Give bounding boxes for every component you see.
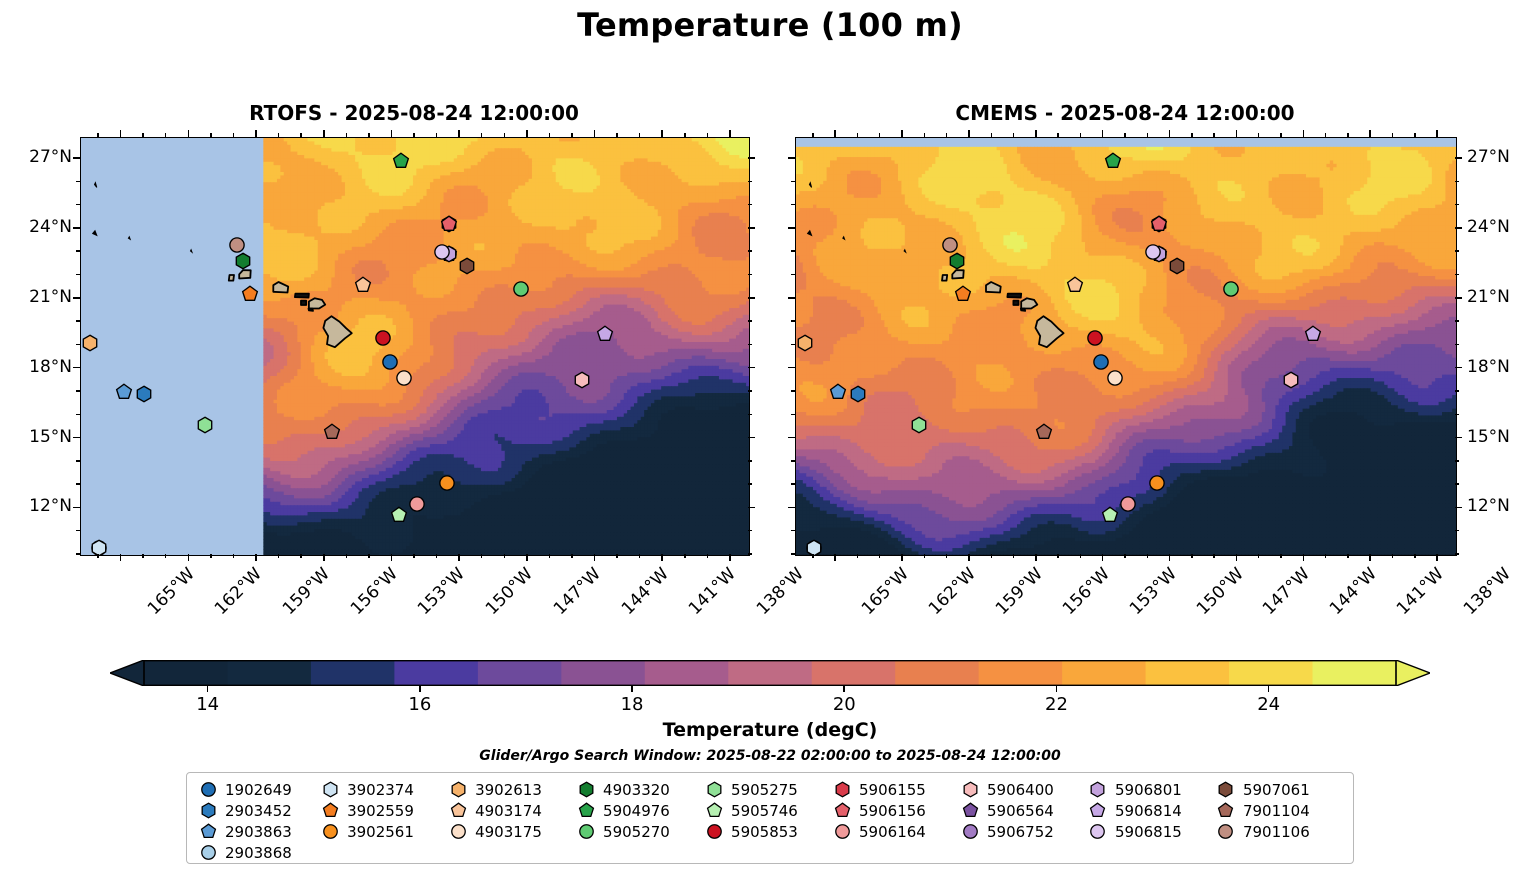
platform-legend[interactable]: 1902649290345229038632903868390237439025… (186, 772, 1354, 864)
legend-marker-icon (703, 781, 725, 798)
legend-label: 5906564 (981, 802, 1054, 820)
legend-marker-icon (575, 823, 597, 840)
x-tick-minor (1347, 554, 1348, 558)
legend-marker-icon (831, 781, 853, 798)
x-axis-label: 147°W (1259, 564, 1314, 619)
y-tick (1455, 297, 1462, 299)
x-tick (1303, 130, 1305, 137)
legend-marker-icon (959, 802, 981, 819)
x-tick-minor (857, 133, 858, 137)
colorbar-tick (1056, 686, 1058, 692)
legend-marker-icon (319, 823, 341, 840)
colorbar-tick (1268, 686, 1270, 692)
platform-marker[interactable] (596, 325, 614, 343)
legend-marker-icon (831, 823, 853, 840)
y-tick-minor (1455, 320, 1459, 321)
x-tick (391, 554, 393, 561)
legend-column: 390237439025593902561 (319, 779, 447, 863)
y-tick (788, 507, 795, 509)
x-axis-label: 138°W (1460, 564, 1515, 619)
y-tick-minor (76, 390, 80, 391)
legend-label: 4903175 (469, 823, 542, 841)
platform-marker[interactable] (1150, 215, 1168, 233)
y-tick-minor (791, 460, 795, 461)
colorbar-tick-label: 14 (196, 694, 219, 715)
legend-label: 5906814 (1109, 802, 1182, 820)
y-tick-minor (76, 204, 80, 205)
map-axes-cmems[interactable] (795, 137, 1457, 556)
y-tick-minor (1455, 460, 1459, 461)
x-tick-minor (142, 554, 143, 558)
legend-marker-icon (703, 802, 725, 819)
y-tick (788, 367, 795, 369)
platform-marker[interactable] (81, 334, 99, 352)
x-tick-minor (346, 133, 347, 137)
x-axis-label: 165°W (858, 564, 913, 619)
legend-marker-icon (1215, 802, 1237, 819)
legend-item[interactable]: 3902613 (447, 779, 575, 800)
y-tick (788, 157, 795, 159)
x-tick-minor (97, 554, 98, 558)
legend-item[interactable]: 2903452 (197, 800, 319, 821)
x-tick (255, 554, 257, 561)
y-tick-minor (76, 250, 80, 251)
x-tick-minor (1057, 554, 1058, 558)
y-tick-minor (76, 483, 80, 484)
x-tick-minor (924, 554, 925, 558)
legend-item[interactable]: 5905275 (703, 779, 831, 800)
y-tick-minor (791, 274, 795, 275)
platform-marker[interactable] (910, 416, 928, 434)
x-tick-minor (300, 554, 301, 558)
panel-title-rtofs: RTOFS - 2025-08-24 12:00:00 (80, 101, 748, 125)
x-tick-minor (549, 133, 550, 137)
x-axis-label: 159°W (279, 564, 334, 619)
x-tick-minor (879, 133, 880, 137)
legend-label: 7901106 (1237, 823, 1310, 841)
platform-marker[interactable] (90, 539, 108, 556)
x-tick-minor (97, 133, 98, 137)
y-tick-minor (791, 250, 795, 251)
x-tick-minor (946, 554, 947, 558)
platform-marker[interactable] (395, 369, 413, 387)
legend-item[interactable]: 5905270 (575, 821, 703, 842)
y-tick (748, 507, 755, 509)
x-tick (968, 130, 970, 137)
legend-label: 5906155 (853, 781, 926, 799)
y-tick-minor (791, 530, 795, 531)
x-tick-minor (1280, 554, 1281, 558)
x-tick (1102, 130, 1104, 137)
legend-item[interactable]: 5906814 (1087, 800, 1215, 821)
x-tick-minor (924, 133, 925, 137)
x-tick-minor (1325, 133, 1326, 137)
legend-column: 1902649290345229038632903868 (197, 779, 319, 863)
legend-item[interactable]: 5906156 (831, 800, 959, 821)
y-tick-minor (748, 460, 752, 461)
x-tick-minor (1191, 133, 1192, 137)
x-tick-minor (946, 133, 947, 137)
legend-label: 5906164 (853, 823, 926, 841)
legend-item[interactable]: 4903174 (447, 800, 575, 821)
x-tick-minor (165, 133, 166, 137)
colorbar-tick-label: 24 (1257, 694, 1280, 715)
platform-marker[interactable] (354, 276, 372, 294)
platform-marker[interactable] (1035, 423, 1053, 441)
y-axis-label: 21°N (8, 287, 72, 307)
legend-item[interactable]: 5906400 (959, 779, 1087, 800)
legend-marker-icon (447, 781, 469, 798)
x-tick (526, 554, 528, 561)
x-tick-minor (1280, 133, 1281, 137)
platform-marker[interactable] (941, 236, 959, 254)
x-tick-minor (1147, 133, 1148, 137)
y-tick (1455, 157, 1462, 159)
legend-label: 5906815 (1109, 823, 1182, 841)
x-axis-label: 156°W (1059, 564, 1114, 619)
legend-item[interactable]: 5906164 (831, 821, 959, 842)
legend-marker-icon (959, 823, 981, 840)
x-tick-minor (1213, 554, 1214, 558)
x-tick-minor (210, 133, 211, 137)
x-tick-minor (481, 133, 482, 137)
platform-marker[interactable] (948, 252, 966, 270)
platform-marker[interactable] (954, 285, 972, 303)
platform-marker[interactable] (1148, 474, 1166, 492)
platform-marker[interactable] (392, 152, 410, 170)
legend-item[interactable]: 5906752 (959, 821, 1087, 842)
platform-marker[interactable] (1144, 243, 1162, 261)
x-tick (901, 130, 903, 137)
legend-item[interactable]: 5905746 (703, 800, 831, 821)
y-axis-label: 15°N (1467, 427, 1510, 447)
x-tick (1102, 554, 1104, 561)
legend-marker-icon (447, 802, 469, 819)
platform-marker[interactable] (1101, 506, 1119, 524)
y-tick-minor (748, 344, 752, 345)
x-axis-label: 159°W (992, 564, 1047, 619)
x-axis-label: 165°W (144, 564, 199, 619)
x-tick-minor (707, 133, 708, 137)
platform-marker[interactable] (1304, 325, 1322, 343)
platform-marker[interactable] (228, 236, 246, 254)
y-tick (1455, 367, 1462, 369)
y-tick-minor (791, 553, 795, 554)
legend-marker-icon (1087, 802, 1109, 819)
legend-item[interactable]: 1902649 (197, 779, 319, 800)
colorbar-tick-label: 16 (408, 694, 431, 715)
x-tick-minor (1325, 554, 1326, 558)
x-tick-minor (1191, 554, 1192, 558)
x-tick-minor (346, 554, 347, 558)
x-tick-minor (413, 133, 414, 137)
x-tick (1035, 130, 1037, 137)
x-tick-minor (436, 133, 437, 137)
platform-marker[interactable] (241, 285, 259, 303)
platform-marker[interactable] (115, 383, 133, 401)
y-tick-minor (1455, 553, 1459, 554)
legend-marker-icon (1215, 781, 1237, 798)
x-tick-minor (812, 133, 813, 137)
y-tick-minor (76, 344, 80, 345)
platform-marker[interactable] (408, 495, 426, 513)
platform-marker[interactable] (573, 371, 591, 389)
x-tick-minor (233, 554, 234, 558)
platform-marker[interactable] (135, 385, 153, 403)
figure-root: Temperature (100 m) RTOFS - 2025-08-24 1… (0, 0, 1540, 889)
platform-marker[interactable] (440, 215, 458, 233)
legend-item[interactable]: 3902561 (319, 821, 447, 842)
y-axis-label: 27°N (8, 147, 72, 167)
y-axis-label: 24°N (1467, 217, 1510, 237)
platform-marker[interactable] (1066, 276, 1084, 294)
x-axis-label: 138°W (753, 564, 808, 619)
platform-marker[interactable] (234, 252, 252, 270)
y-tick (73, 227, 80, 229)
x-tick-minor (1124, 133, 1125, 137)
legend-label: 2903868 (219, 844, 292, 862)
y-tick-minor (791, 483, 795, 484)
legend-column: 590615559061565906164 (831, 779, 959, 863)
y-tick-minor (748, 390, 752, 391)
legend-label: 5905275 (725, 781, 798, 799)
y-tick-minor (1455, 390, 1459, 391)
platform-marker[interactable] (1092, 353, 1110, 371)
y-axis-label: 12°N (1467, 496, 1510, 516)
x-tick-minor (991, 133, 992, 137)
legend-item[interactable]: 4903175 (447, 821, 575, 842)
x-tick-minor (571, 554, 572, 558)
x-tick-minor (504, 133, 505, 137)
x-tick (120, 130, 122, 137)
legend-item[interactable]: 5904976 (575, 800, 703, 821)
x-tick (323, 130, 325, 137)
x-tick (458, 554, 460, 561)
y-tick-minor (1455, 181, 1459, 182)
x-tick-minor (1392, 554, 1393, 558)
x-axis-label: 162°W (925, 564, 980, 619)
colorbar-tick-label: 20 (833, 694, 856, 715)
x-tick (1236, 130, 1238, 137)
y-axis-label: 18°N (8, 357, 72, 377)
x-tick-minor (571, 133, 572, 137)
x-tick-minor (707, 554, 708, 558)
legend-item[interactable]: 5906155 (831, 779, 959, 800)
y-tick-minor (76, 530, 80, 531)
x-tick-minor (368, 554, 369, 558)
x-tick (526, 130, 528, 137)
y-tick-minor (76, 181, 80, 182)
legend-item[interactable]: 7901104 (1215, 800, 1343, 821)
x-tick-minor (991, 554, 992, 558)
platform-marker[interactable] (458, 257, 476, 275)
x-tick-minor (616, 554, 617, 558)
legend-item[interactable]: 5907061 (1215, 779, 1343, 800)
legend-label: 3902559 (341, 802, 414, 820)
colorbar-tick (631, 686, 633, 692)
legend-label: 3902374 (341, 781, 414, 799)
platform-marker[interactable] (374, 329, 392, 347)
legend-item[interactable]: 7901106 (1215, 821, 1343, 842)
legend-label: 3902613 (469, 781, 542, 799)
x-tick-minor (639, 133, 640, 137)
y-tick-minor (748, 483, 752, 484)
platform-marker[interactable] (323, 423, 341, 441)
x-tick-minor (1147, 554, 1148, 558)
colorbar-tick (419, 686, 421, 692)
legend-column: 590640059065645906752 (959, 779, 1087, 863)
legend-label: 2903452 (219, 802, 292, 820)
x-tick (323, 554, 325, 561)
legend-item[interactable]: 5905853 (703, 821, 831, 842)
x-axis-label: 153°W (414, 564, 469, 619)
x-tick (120, 554, 122, 561)
x-tick (1369, 130, 1371, 137)
legend-item[interactable]: 3902374 (319, 779, 447, 800)
platform-marker[interactable] (433, 243, 451, 261)
x-tick-minor (210, 554, 211, 558)
platform-marker[interactable] (1168, 257, 1186, 275)
x-tick-minor (616, 133, 617, 137)
x-tick (1236, 554, 1238, 561)
legend-marker-icon (197, 844, 219, 861)
x-tick (968, 554, 970, 561)
legend-label: 5906400 (981, 781, 1054, 799)
y-tick (748, 367, 755, 369)
x-tick (729, 554, 731, 561)
x-axis-label: 162°W (211, 564, 266, 619)
x-tick (901, 554, 903, 561)
x-tick (729, 130, 731, 137)
colorbar-subtitle: Glider/Argo Search Window: 2025-08-22 02… (0, 748, 1540, 764)
legend-item[interactable]: 5906815 (1087, 821, 1215, 842)
x-axis-label: 150°W (1193, 564, 1248, 619)
x-tick (661, 554, 663, 561)
x-tick (834, 554, 836, 561)
y-tick (73, 437, 80, 439)
legend-label: 2903863 (219, 823, 292, 841)
x-tick-minor (278, 554, 279, 558)
legend-column: 590706179011047901106 (1215, 779, 1343, 863)
legend-item[interactable]: 5906801 (1087, 779, 1215, 800)
y-tick-minor (748, 181, 752, 182)
y-tick (73, 367, 80, 369)
x-tick-minor (233, 133, 234, 137)
x-tick (1169, 554, 1171, 561)
x-tick (391, 130, 393, 137)
x-tick-minor (481, 554, 482, 558)
y-axis-label: 15°N (8, 427, 72, 447)
platform-marker[interactable] (829, 383, 847, 401)
y-tick (1455, 227, 1462, 229)
legend-column: 390261349031744903175 (447, 779, 575, 863)
legend-marker-icon (959, 781, 981, 798)
map-axes-rtofs[interactable] (80, 137, 750, 556)
x-tick (1303, 554, 1305, 561)
y-tick-minor (1455, 483, 1459, 484)
x-tick-minor (504, 554, 505, 558)
platform-marker[interactable] (512, 280, 530, 298)
y-tick-minor (791, 414, 795, 415)
legend-label: 4903320 (597, 781, 670, 799)
colorbar-tick-label: 18 (621, 694, 644, 715)
x-tick-minor (368, 133, 369, 137)
y-tick (748, 297, 755, 299)
y-axis-label: 18°N (1467, 357, 1510, 377)
x-tick (594, 130, 596, 137)
legend-label: 5906801 (1109, 781, 1182, 799)
platform-marker[interactable] (390, 506, 408, 524)
x-tick-minor (879, 554, 880, 558)
platform-marker[interactable] (849, 385, 867, 403)
legend-marker-icon (831, 802, 853, 819)
legend-marker-icon (575, 802, 597, 819)
platform-marker[interactable] (196, 416, 214, 434)
legend-label: 5906156 (853, 802, 926, 820)
platform-marker[interactable] (1086, 329, 1104, 347)
y-tick-minor (791, 320, 795, 321)
legend-item[interactable]: 4903320 (575, 779, 703, 800)
legend-item[interactable]: 2903863 (197, 821, 319, 842)
legend-label: 5905853 (725, 823, 798, 841)
y-tick (748, 437, 755, 439)
x-tick (458, 130, 460, 137)
x-tick-minor (1080, 554, 1081, 558)
y-tick-minor (76, 320, 80, 321)
x-axis-label: 147°W (550, 564, 605, 619)
legend-label: 7901104 (1237, 802, 1310, 820)
x-tick-minor (684, 133, 685, 137)
platform-marker[interactable] (381, 353, 399, 371)
legend-column: 490332059049765905270 (575, 779, 703, 863)
legend-label: 5905270 (597, 823, 670, 841)
x-tick-minor (413, 554, 414, 558)
y-tick-minor (1455, 414, 1459, 415)
platform-marker[interactable] (1282, 371, 1300, 389)
legend-item[interactable]: 3902559 (319, 800, 447, 821)
platform-marker[interactable] (438, 474, 456, 492)
y-tick-minor (1455, 204, 1459, 205)
legend-item[interactable]: 5906564 (959, 800, 1087, 821)
legend-label: 5906752 (981, 823, 1054, 841)
legend-label: 5905746 (725, 802, 798, 820)
x-tick-minor (1347, 133, 1348, 137)
y-tick-minor (748, 553, 752, 554)
map-field-cmems (796, 138, 1456, 555)
platform-marker[interactable] (1106, 369, 1124, 387)
platform-marker[interactable] (1119, 495, 1137, 513)
x-tick (188, 554, 190, 561)
platform-marker[interactable] (796, 334, 814, 352)
figure-suptitle: Temperature (100 m) (0, 6, 1540, 44)
platform-marker[interactable] (1104, 152, 1122, 170)
colorbar (110, 660, 1430, 686)
legend-item[interactable]: 2903868 (197, 842, 319, 863)
x-tick (1436, 554, 1438, 561)
y-tick-minor (76, 274, 80, 275)
y-tick-minor (1455, 530, 1459, 531)
x-axis-label: 156°W (347, 564, 402, 619)
x-tick (188, 130, 190, 137)
legend-label: 4903174 (469, 802, 542, 820)
legend-marker-icon (319, 781, 341, 798)
y-tick-minor (76, 553, 80, 554)
platform-marker[interactable] (805, 539, 823, 556)
x-axis-label: 144°W (617, 564, 672, 619)
x-tick-minor (1013, 133, 1014, 137)
platform-marker[interactable] (1222, 280, 1240, 298)
x-axis-label: 153°W (1126, 564, 1181, 619)
